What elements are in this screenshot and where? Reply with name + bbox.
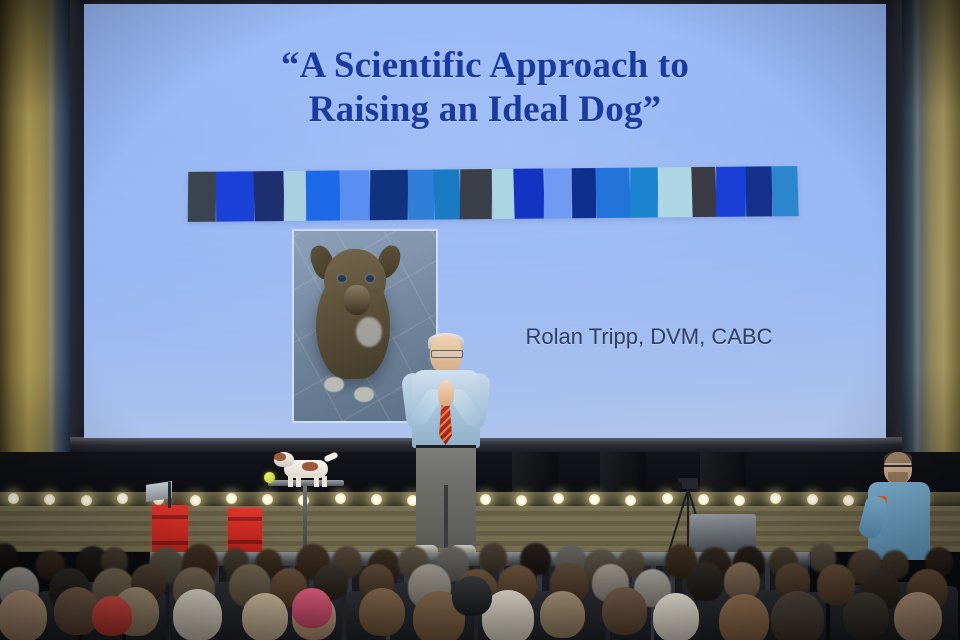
audience-head (719, 594, 769, 640)
footlight (226, 493, 237, 504)
architectural-column-left (0, 0, 72, 512)
banner-block (370, 170, 408, 220)
dog-paw-right (354, 387, 374, 402)
black-cap (452, 576, 492, 616)
audience-head (894, 592, 942, 640)
footlight (190, 495, 201, 506)
banner-block (691, 167, 716, 217)
footlight (371, 494, 382, 505)
presenter-hands (438, 380, 454, 406)
footlight (8, 493, 19, 504)
camera-lens (672, 482, 682, 490)
dog-muzzle (344, 285, 370, 315)
banner-block (572, 168, 596, 218)
banner-block (658, 167, 692, 217)
red-shirt (92, 596, 132, 636)
screen-mask-left (70, 0, 84, 452)
banner-block (492, 169, 514, 219)
banner-block (339, 170, 370, 220)
slide-title-line-2: Raising an Ideal Dog” (84, 88, 886, 132)
crew-hair (884, 452, 912, 463)
banner-block (513, 169, 544, 219)
banner-block (408, 170, 434, 220)
banner-block (630, 167, 658, 217)
model-dog-tail (323, 451, 338, 462)
audience-head (0, 590, 47, 640)
slide-title: “A Scientific Approach to Raising an Ide… (84, 44, 886, 131)
footlight (625, 495, 636, 506)
banner-block (284, 171, 306, 221)
banner-block (306, 170, 340, 220)
dog-eye-left (338, 275, 346, 282)
banner-block (188, 172, 216, 222)
glasses-icon (431, 350, 463, 358)
banner-block (460, 169, 492, 219)
footlight (589, 494, 600, 505)
footlight (770, 493, 781, 504)
model-dog-leg (296, 476, 301, 487)
banner-block (544, 168, 572, 218)
model-dog-leg (288, 476, 293, 487)
footlight (81, 495, 92, 506)
footlight (843, 495, 854, 506)
banner-block (716, 167, 746, 217)
tennis-ball-prop (264, 472, 275, 483)
banner-block (595, 168, 630, 218)
audience-head (479, 543, 507, 573)
audience-head (602, 587, 647, 634)
presentation-photo: “A Scientific Approach to Raising an Ide… (0, 0, 960, 640)
model-dog-head-patch (274, 453, 286, 461)
slide-presenter-credit: Rolan Tripp, DVM, CABC (484, 324, 814, 350)
banner-block (433, 169, 460, 219)
dog-paw-left (324, 377, 344, 392)
audience-head (540, 591, 585, 638)
audience-head (359, 588, 405, 636)
audience-head (653, 593, 700, 640)
dog-eye-right (366, 275, 374, 282)
audience-head (843, 592, 889, 640)
banner-block (253, 171, 284, 221)
model-dog-patch (302, 462, 318, 471)
audience-head (687, 562, 724, 601)
slide-title-line-1: “A Scientific Approach to (84, 44, 886, 88)
footlight (44, 494, 55, 505)
mic-stand (168, 482, 171, 508)
seated-audience (0, 536, 960, 640)
footlight (262, 494, 273, 505)
footlight (117, 493, 128, 504)
footlight (335, 493, 346, 504)
audience-head (242, 593, 288, 640)
pink-cap (292, 588, 332, 628)
dog-chest-marking (356, 317, 382, 347)
banner-block (746, 166, 772, 216)
footlight (734, 495, 745, 506)
banner-block (216, 171, 254, 221)
footlight (807, 494, 818, 505)
decorative-color-banner (188, 166, 798, 222)
model-dog-prop (270, 450, 342, 484)
glasses-icon (884, 465, 912, 471)
banner-block (771, 166, 798, 216)
architectural-column-right (902, 0, 960, 512)
presenter-speaker (402, 335, 490, 560)
audience-head (771, 591, 824, 640)
model-dog-leg (322, 476, 327, 487)
audience-head (173, 589, 222, 640)
screen-mask-right (886, 0, 902, 452)
model-dog-leg (314, 476, 319, 487)
footlight (553, 493, 564, 504)
footlight (516, 495, 527, 506)
